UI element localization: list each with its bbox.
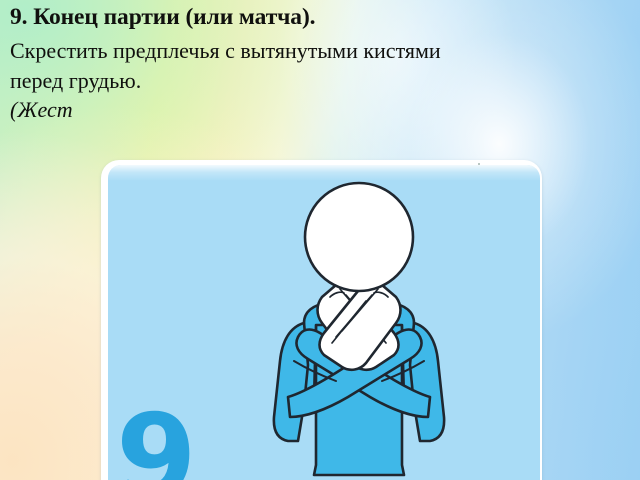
instruction-line-3-italic: (Жест <box>10 97 622 124</box>
slide-canvas: 9. Конец партии (или матча). Скрестить п… <box>0 0 640 480</box>
slide-text-block: 9. Конец партии (или матча). Скрестить п… <box>10 4 622 127</box>
instruction-line-2: перед грудью. <box>10 68 622 95</box>
slide-title: 9. Конец партии (или матча). <box>10 4 622 32</box>
instruction-line-1: Скрестить предплечья с вытянутыми кистям… <box>10 38 612 65</box>
illustration-panel: 9 <box>108 165 540 480</box>
panel-speck <box>478 163 480 165</box>
illustration-number-label: 9 <box>116 400 197 480</box>
